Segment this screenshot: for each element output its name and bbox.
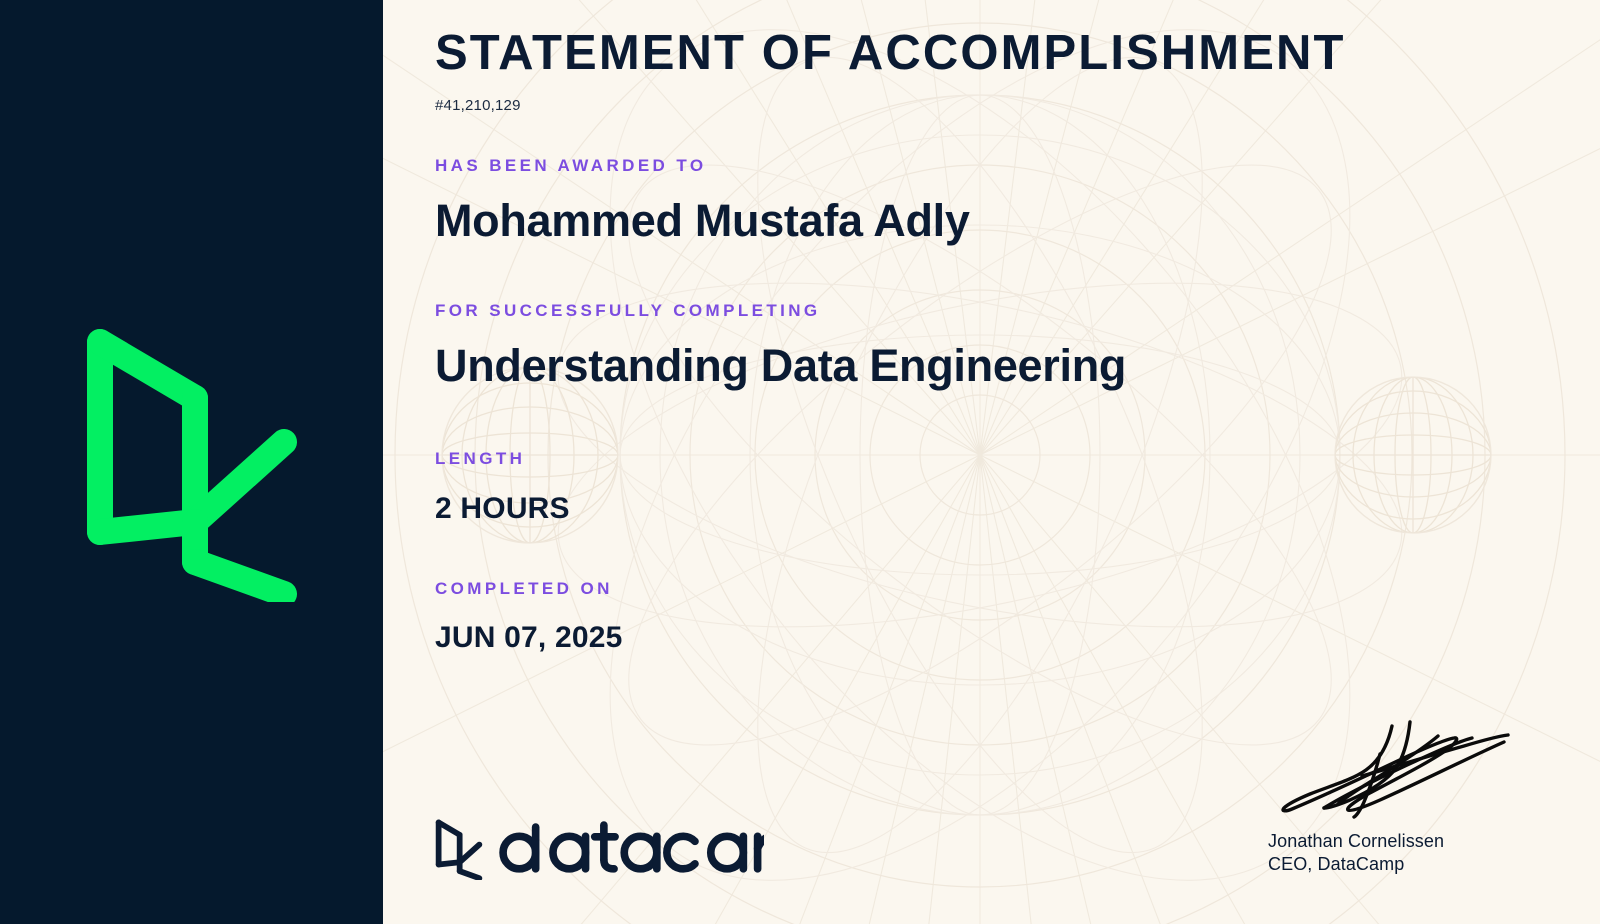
completion-date: JUN 07, 2025 — [435, 620, 1600, 656]
handwritten-signature-icon — [1268, 712, 1518, 824]
field-label-course: FOR SUCCESSFULLY COMPLETING — [435, 301, 1600, 321]
field-length: LENGTH 2 HOURS — [435, 449, 1600, 527]
field-course: FOR SUCCESSFULLY COMPLETING Understandin… — [435, 301, 1600, 392]
course-length: 2 HOURS — [435, 491, 1600, 527]
signer-name: Jonathan Cornelissen — [1268, 830, 1528, 853]
footer-brand-logo — [435, 818, 764, 880]
certificate: STATEMENT OF ACCOMPLISHMENT #41,210,129 … — [0, 0, 1600, 924]
left-brand-panel — [0, 0, 383, 924]
datacamp-logo-mark-icon — [87, 322, 297, 602]
datacamp-wordmark — [499, 821, 764, 877]
field-label-completed-on: COMPLETED ON — [435, 579, 1600, 599]
signature-block: Jonathan Cornelissen CEO, DataCamp — [1268, 712, 1528, 876]
recipient-name: Mohammed Mustafa Adly — [435, 194, 1600, 247]
field-awarded-to: HAS BEEN AWARDED TO Mohammed Mustafa Adl… — [435, 156, 1600, 247]
field-label-awarded-to: HAS BEEN AWARDED TO — [435, 156, 1600, 176]
signer-role: CEO, DataCamp — [1268, 853, 1528, 876]
datacamp-logo-mark-icon — [435, 818, 483, 880]
certificate-number: #41,210,129 — [435, 97, 1600, 114]
page-title: STATEMENT OF ACCOMPLISHMENT — [435, 28, 1600, 79]
certificate-body: STATEMENT OF ACCOMPLISHMENT #41,210,129 … — [383, 0, 1600, 924]
course-title: Understanding Data Engineering — [435, 339, 1600, 392]
field-completed-on: COMPLETED ON JUN 07, 2025 — [435, 579, 1600, 656]
field-label-length: LENGTH — [435, 449, 1600, 469]
